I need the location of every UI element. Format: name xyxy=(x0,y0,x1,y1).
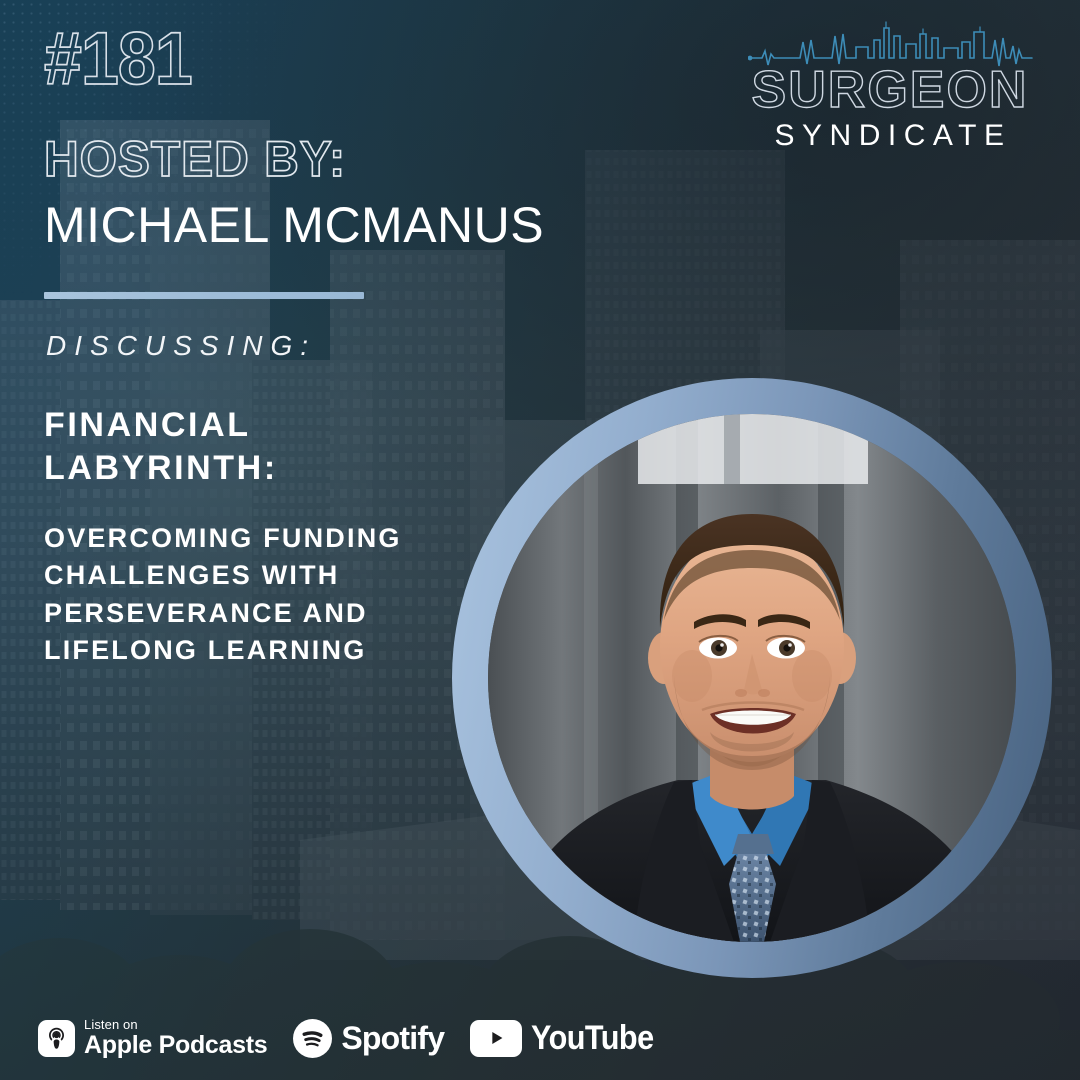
logo-syndicate-text: SYNDICATE xyxy=(740,119,1040,153)
spotify-icon xyxy=(293,1019,332,1058)
youtube-label: YouTube xyxy=(531,1019,654,1058)
portrait-photo xyxy=(488,414,1016,942)
platform-apple-podcasts[interactable]: Listen on Apple Podcasts xyxy=(38,1018,267,1058)
guest-portrait xyxy=(452,378,1052,978)
divider-rule xyxy=(44,292,364,299)
apple-podcasts-label-group: Listen on Apple Podcasts xyxy=(84,1018,267,1058)
logo-surgeon-text: SURGEON xyxy=(740,66,1040,115)
episode-title: FINANCIAL LABYRINTH: xyxy=(44,404,474,490)
episode-subtitle: OVERCOMING FUNDING CHALLENGES WITH PERSE… xyxy=(44,520,484,669)
hosted-by-label: HOSTED BY: xyxy=(44,134,346,184)
platform-youtube[interactable]: YouTube xyxy=(470,1019,667,1058)
apple-podcasts-icon xyxy=(38,1020,75,1057)
apple-podcasts-listen-on: Listen on xyxy=(84,1018,267,1031)
platform-spotify[interactable]: Spotify xyxy=(293,1019,444,1058)
brand-logo: SURGEON SYNDICATE xyxy=(740,18,1040,153)
podcast-episode-graphic: SURGEON SYNDICATE #181 HOSTED BY: MICHAE… xyxy=(0,0,1080,1080)
host-name: MICHAEL MCMANUS xyxy=(44,197,544,253)
episode-number: #181 xyxy=(44,22,192,96)
youtube-play-icon xyxy=(470,1020,522,1057)
spotify-label: Spotify xyxy=(341,1020,444,1057)
discussing-eyebrow: DISCUSSING: xyxy=(46,330,316,362)
apple-podcasts-label: Apple Podcasts xyxy=(84,1033,267,1058)
platform-badges: Listen on Apple Podcasts Spotify xyxy=(38,1018,667,1058)
